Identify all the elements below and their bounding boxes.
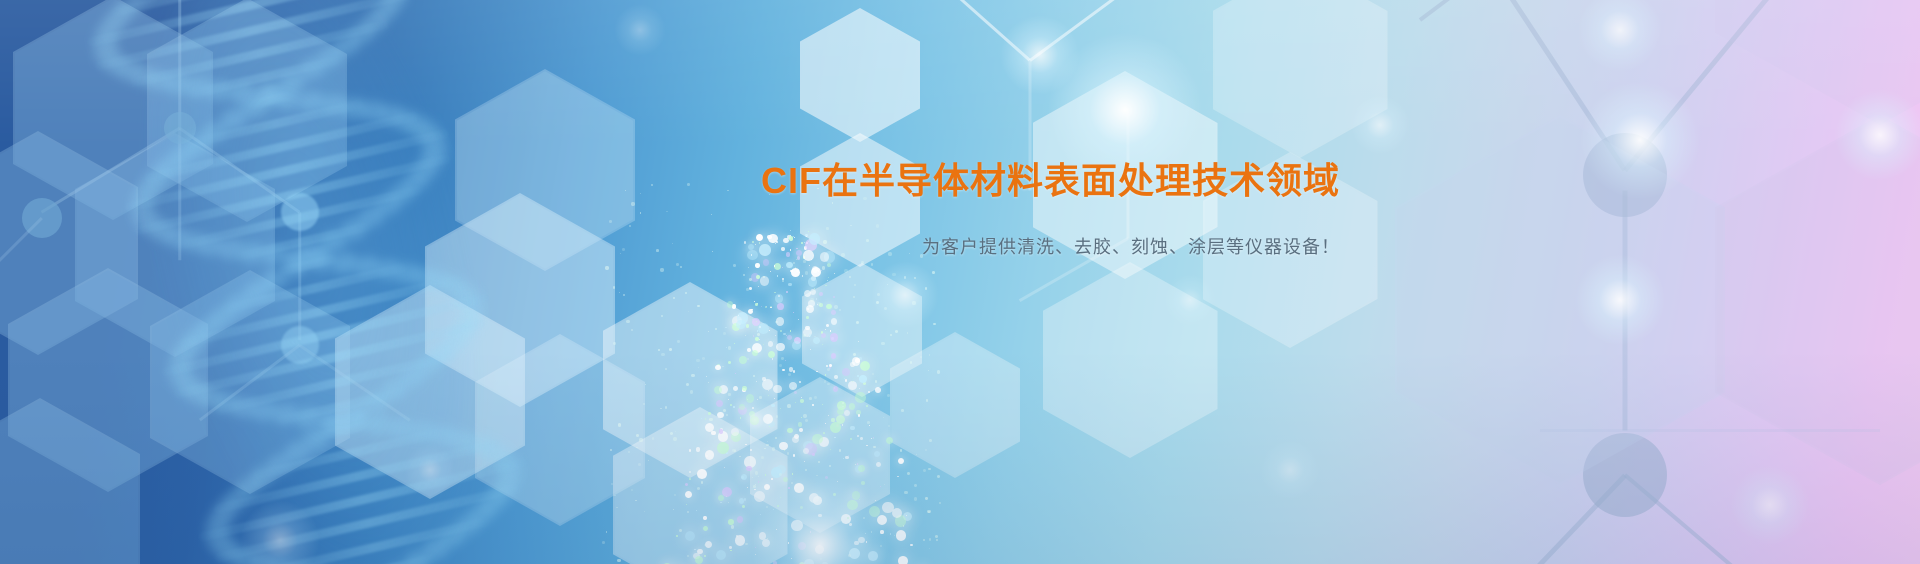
- hero-banner: CIF在半导体材料表面处理技术领域 为客户提供清洗、去胶、刻蚀、涂层等仪器设备！: [0, 0, 1920, 564]
- banner-subtitle: 为客户提供清洗、去胶、刻蚀、涂层等仪器设备！: [0, 233, 1340, 259]
- banner-headline: CIF在半导体材料表面处理技术领域: [0, 152, 1340, 204]
- banner-text-block: CIF在半导体材料表面处理技术领域 为客户提供清洗、去胶、刻蚀、涂层等仪器设备！: [0, 0, 1920, 564]
